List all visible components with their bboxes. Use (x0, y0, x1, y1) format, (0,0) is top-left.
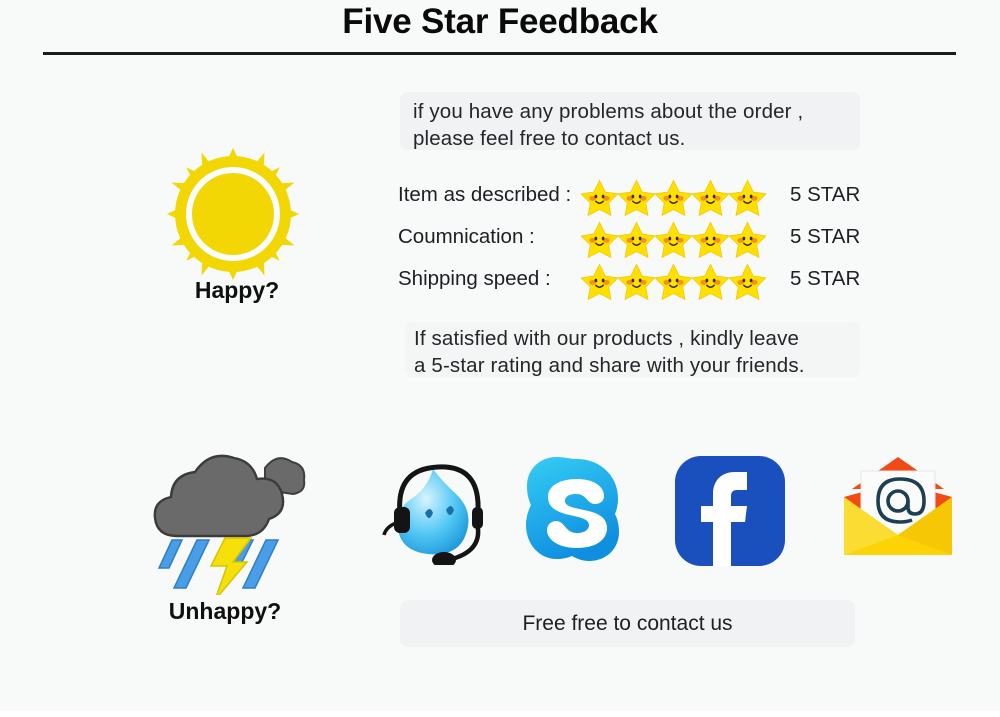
rating-label: Shipping speed : (398, 267, 551, 291)
smiley-star-icon (655, 261, 692, 301)
smiley-star-icon (618, 219, 655, 259)
smiley-star-icon (618, 177, 655, 217)
rating-stars (581, 219, 766, 259)
outro-text: If satisfied with our products , kindly … (414, 325, 864, 379)
rating-label: Coumnication : (398, 225, 535, 249)
smiley-star-icon (729, 219, 766, 259)
smiley-star-icon (581, 261, 618, 301)
header-divider (43, 52, 956, 55)
feedback-page: Five Star Feedback if you have any probl… (0, 0, 1000, 717)
smiley-star-icon (655, 177, 692, 217)
rating-value: 5 STAR (790, 225, 860, 249)
intro-text: if you have any problems about the order… (413, 98, 863, 152)
smiley-star-icon (729, 261, 766, 301)
skype-icon[interactable] (522, 455, 632, 565)
rating-row: Item as described : 5 STAR (398, 178, 868, 218)
rating-value: 5 STAR (790, 267, 860, 291)
rating-label: Item as described : (398, 183, 571, 207)
happy-label: Happy? (107, 277, 367, 304)
facebook-icon[interactable] (673, 454, 787, 568)
email-envelope-icon[interactable] (840, 455, 956, 561)
smiley-star-icon (581, 219, 618, 259)
rating-row: Shipping speed : 5 STAR (398, 262, 868, 302)
unhappy-label: Unhappy? (95, 598, 355, 625)
trademanager-icon[interactable] (378, 455, 488, 565)
rating-value: 5 STAR (790, 183, 860, 207)
rating-row: Coumnication : 5 STAR (398, 220, 868, 260)
smiley-star-icon (692, 261, 729, 301)
smiley-star-icon (581, 177, 618, 217)
rating-stars (581, 177, 766, 217)
sun-icon (167, 148, 299, 280)
page-title: Five Star Feedback (0, 2, 1000, 42)
smiley-star-icon (729, 177, 766, 217)
contact-cta-label: Free free to contact us (522, 612, 732, 636)
bottom-edge (0, 711, 1000, 717)
contact-cta-button[interactable]: Free free to contact us (400, 600, 855, 647)
rating-stars (581, 261, 766, 301)
smiley-star-icon (692, 219, 729, 259)
storm-cloud-rain-icon (147, 440, 322, 595)
smiley-star-icon (618, 261, 655, 301)
smiley-star-icon (692, 177, 729, 217)
smiley-star-icon (655, 219, 692, 259)
